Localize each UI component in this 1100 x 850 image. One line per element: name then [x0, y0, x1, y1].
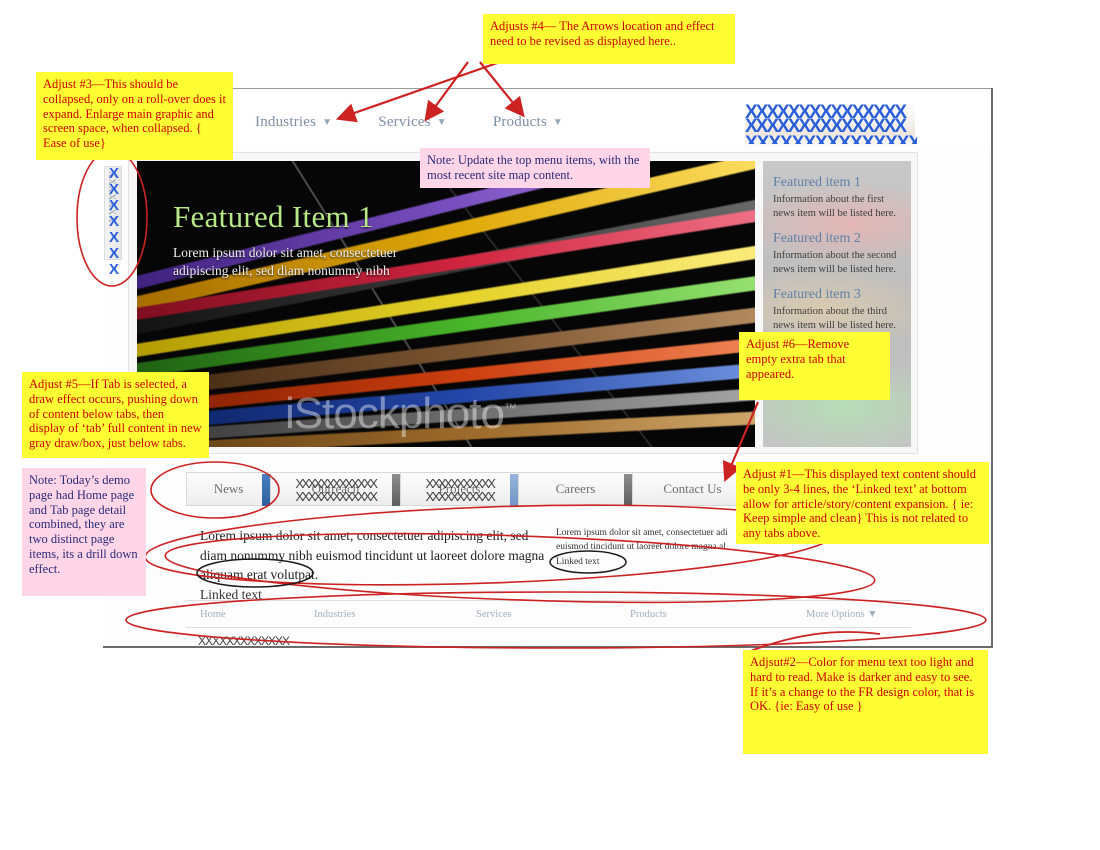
featured-item-title: Featured item 3: [773, 287, 901, 303]
featured-item-body-line2: news item will be listed here.: [773, 208, 896, 219]
featured-item-body-line1: Information about the second: [773, 250, 896, 261]
footer-tagline: XXXXXXXXXXXXX: [198, 634, 289, 648]
featured-item-body-line2: news item will be listed here.: [773, 320, 896, 331]
featured-item[interactable]: Featured item 1 Information about the fi…: [763, 175, 911, 221]
tab-outreach[interactable]: Outreach XXXXXXXXXXXXXXXXXXXXXXXXXX: [270, 472, 400, 506]
featured-item-title: Featured item 2: [773, 231, 901, 247]
annotation-note-adjust-1: Adjust #1—This displayed text content sh…: [736, 462, 989, 544]
featured-item-body: Information about the second news item w…: [773, 249, 901, 277]
footer-item-home[interactable]: Home: [200, 609, 226, 620]
copy-right-line1: Lorem ipsum dolor sit amet, consectetuer…: [556, 528, 728, 538]
content-tab-strip[interactable]: News Outreach XXXXXXXXXXXXXXXXXXXXXXXXXX…: [186, 472, 806, 506]
hero-image-stage: Featured Item 1 Lorem ipsum dolor sit am…: [137, 161, 755, 447]
footer-item-products[interactable]: Products: [630, 609, 667, 620]
annotation-note-adjust-2: Adjsut#2—Color for menu text too light a…: [743, 650, 988, 754]
tab-contact-us[interactable]: Contact Us: [632, 472, 752, 506]
annotation-note-adjust-6: Adjust #6—Remove empty extra tab that ap…: [739, 332, 890, 400]
chevron-down-icon: ▼: [437, 117, 447, 128]
tab-label-outreach: Outreach: [312, 481, 360, 497]
copy-left-line2: diam nonummy nibh euismod tincidunt ut l…: [200, 548, 544, 563]
content-paragraph-right: Lorem ipsum dolor sit amet, consectetuer…: [556, 526, 756, 569]
tab-label-projects: Projects: [439, 481, 481, 497]
annotation-note-demo-page: Note: Today’s demo page had Home page an…: [22, 468, 146, 596]
top-navigation: Industries▼ Services▼ Products▼: [255, 114, 563, 131]
annotation-note-top-menu: Note: Update the top menu items, with th…: [420, 148, 650, 188]
copy-right-line2: euismod tincidunt ut laoreet dolore magn…: [556, 542, 726, 552]
tab-news[interactable]: News: [186, 472, 270, 506]
featured-item-body-line1: Information about the third: [773, 306, 887, 317]
footer-item-industries[interactable]: Industries: [314, 609, 355, 620]
hero-banner: Featured Item 1 Lorem ipsum dolor sit am…: [128, 152, 918, 454]
topnav-label-services: Services: [378, 114, 430, 130]
topnav-label-products: Products: [493, 114, 547, 130]
copy-left-line3: aliquam erat volutpat.: [200, 567, 318, 582]
left-vertical-nav-rail[interactable]: XXXXXXX: [104, 166, 122, 260]
footer-more-options-label: More Options: [806, 609, 865, 620]
featured-item[interactable]: Featured item 2 Information about the se…: [763, 231, 911, 277]
hero-subtitle: Lorem ipsum dolor sit amet, consectetuer…: [173, 244, 397, 280]
hero-text-block: Featured Item 1 Lorem ipsum dolor sit am…: [173, 199, 397, 280]
featured-item-body: Information about the third news item wi…: [773, 305, 901, 333]
tab-projects[interactable]: Projects XXXXXXXXXXXXXXXXXXXXXX: [400, 472, 518, 506]
hero-title: Featured Item 1: [173, 199, 397, 235]
content-paragraph-left: Lorem ipsum dolor sit amet, consectetuer…: [200, 526, 545, 604]
footer-navigation: Home Industries Services Products More O…: [186, 600, 911, 628]
chevron-down-icon: ▼: [867, 609, 877, 620]
left-rail-label: XXXXXXX: [107, 171, 117, 224]
site-logo-area: [745, 104, 915, 146]
annotation-note-adjust-4: Adjusts #4— The Arrows location and effe…: [483, 14, 735, 64]
annotation-note-adjust-5: Adjust #5—If Tab is selected, a draw eff…: [22, 372, 209, 458]
topnav-item-products[interactable]: Products▼: [493, 114, 563, 131]
footer-item-more-options[interactable]: More Options ▼: [806, 609, 878, 620]
chevron-down-icon: ▼: [553, 117, 563, 128]
featured-item-title: Featured item 1: [773, 175, 901, 191]
linked-text-right[interactable]: Linked text: [556, 557, 600, 567]
tab-careers[interactable]: Careers: [518, 472, 632, 506]
tab-label-contact-us: Contact Us: [663, 481, 721, 497]
topnav-item-services[interactable]: Services▼: [378, 114, 447, 131]
featured-item-body: Information about the first news item wi…: [773, 193, 901, 221]
hero-subtitle-line1: Lorem ipsum dolor sit amet, consectetuer: [173, 245, 397, 260]
footer-item-services[interactable]: Services: [476, 609, 512, 620]
topnav-label-industries: Industries: [255, 114, 316, 130]
featured-item[interactable]: Featured item 3 Information about the th…: [763, 287, 911, 333]
copy-left-line1: Lorem ipsum dolor sit amet, consectetuer…: [200, 528, 528, 543]
chevron-down-icon: ▼: [322, 117, 332, 128]
featured-item-body-line1: Information about the first: [773, 194, 884, 205]
featured-items-column: Featured item 1 Information about the fi…: [763, 161, 911, 447]
tab-label-careers: Careers: [556, 481, 596, 497]
topnav-item-industries[interactable]: Industries▼: [255, 114, 332, 131]
annotation-note-adjust-3: Adjust #3—This should be collapsed, only…: [36, 72, 233, 160]
tab-label-news: News: [214, 481, 244, 497]
featured-item-body-line2: news item will be listed here.: [773, 264, 896, 275]
hero-subtitle-line2: adipiscing elit, sed diam nonummy nibh: [173, 263, 390, 278]
